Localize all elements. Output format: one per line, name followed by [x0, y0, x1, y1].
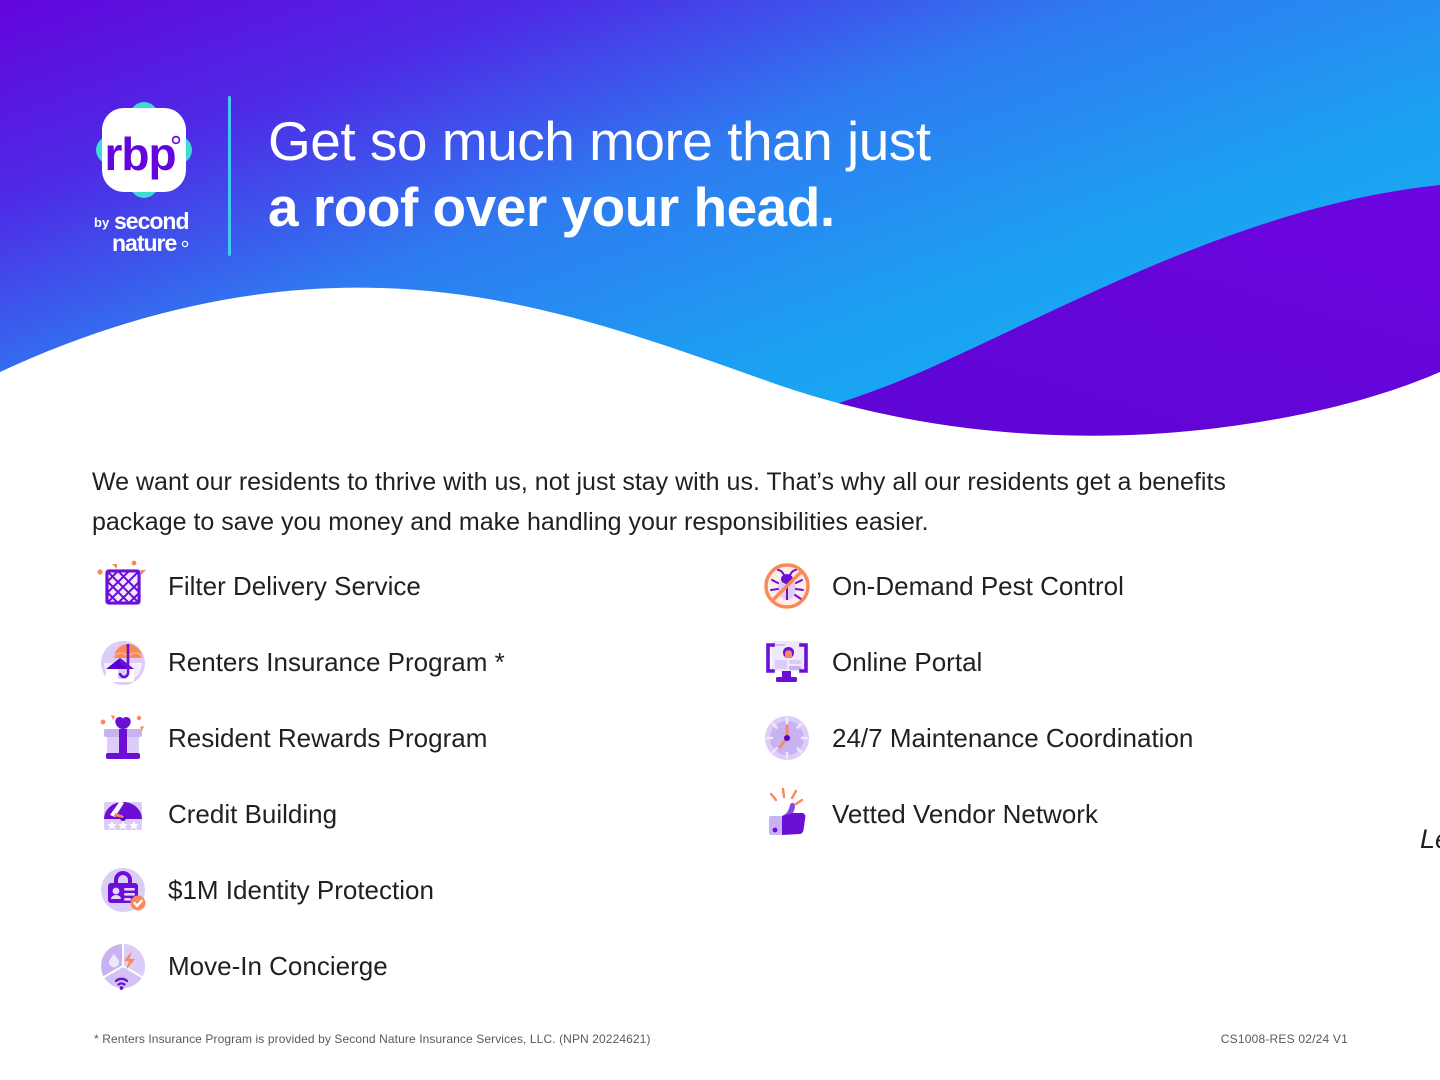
benefit-label: 24/7 Maintenance Coordination	[832, 723, 1193, 753]
monitor-icon	[756, 632, 818, 692]
rbp-logo: rbp by second nature	[88, 100, 200, 255]
benefit-filter-delivery-service: Filter Delivery Service	[92, 556, 712, 616]
benefits-column-right: On-Demand Pest Control	[756, 556, 1376, 860]
benefit-label: Filter Delivery Service	[168, 571, 421, 601]
benefit-vetted-vendor-network: Vetted Vendor Network	[756, 784, 1376, 844]
benefit-label: Renters Insurance Program *	[168, 647, 505, 677]
headline-line-1: Get so much more than just	[268, 108, 931, 174]
rbp-logo-byline: by second nature	[88, 206, 200, 256]
headline-line-2: a roof over your head.	[268, 174, 931, 240]
credit-gauge-icon	[92, 784, 154, 844]
gift-box-icon	[92, 708, 154, 768]
benefit-pest-control: On-Demand Pest Control	[756, 556, 1376, 616]
benefit-move-in-concierge: Move-In Concierge	[92, 936, 712, 996]
benefit-online-portal: Online Portal	[756, 632, 1376, 692]
no-bug-icon	[756, 556, 818, 616]
benefits-column-left: Filter Delivery Service Renters Insuranc…	[92, 556, 712, 1012]
air-filter-icon	[92, 556, 154, 616]
benefit-label: Resident Rewards Program	[168, 723, 487, 753]
intro-paragraph: We want our residents to thrive with us,…	[92, 462, 1312, 542]
utilities-circle-icon	[92, 936, 154, 996]
page-title: Get so much more than just a roof over y…	[268, 108, 931, 240]
benefit-maintenance-coordination: 24/7 Maintenance Coordination	[756, 708, 1376, 768]
benefit-label: Move-In Concierge	[168, 951, 388, 981]
benefit-label: Credit Building	[168, 799, 337, 829]
hero-banner: rbp by second nature Get so much more th…	[0, 0, 1440, 450]
benefit-label: On-Demand Pest Control	[832, 571, 1124, 601]
footnote-disclaimer: * Renters Insurance Program is provided …	[94, 1032, 651, 1046]
benefit-identity-protection: $1M Identity Protection	[92, 860, 712, 920]
svg-text:by: by	[94, 215, 110, 230]
svg-text:nature: nature	[112, 230, 177, 256]
rbp-logo-mark: rbp	[88, 100, 200, 206]
document-code: CS1008-RES 02/24 V1	[1221, 1032, 1348, 1046]
clock-icon	[756, 708, 818, 768]
svg-text:rbp: rbp	[104, 128, 175, 180]
benefit-credit-building: Credit Building	[92, 784, 712, 844]
benefit-label: Vetted Vendor Network	[832, 799, 1098, 829]
umbrella-house-icon	[92, 632, 154, 692]
benefit-label: Online Portal	[832, 647, 982, 677]
thumbs-up-icon	[756, 784, 818, 844]
learn-more-text[interactable]: Learn more at secondnature.com/residents	[1420, 824, 1440, 855]
id-badge-shield-icon	[92, 860, 154, 920]
benefit-label: $1M Identity Protection	[168, 875, 434, 905]
header-divider	[228, 96, 231, 256]
benefit-renters-insurance-program: Renters Insurance Program *	[92, 632, 712, 692]
benefit-resident-rewards-program: Resident Rewards Program	[92, 708, 712, 768]
